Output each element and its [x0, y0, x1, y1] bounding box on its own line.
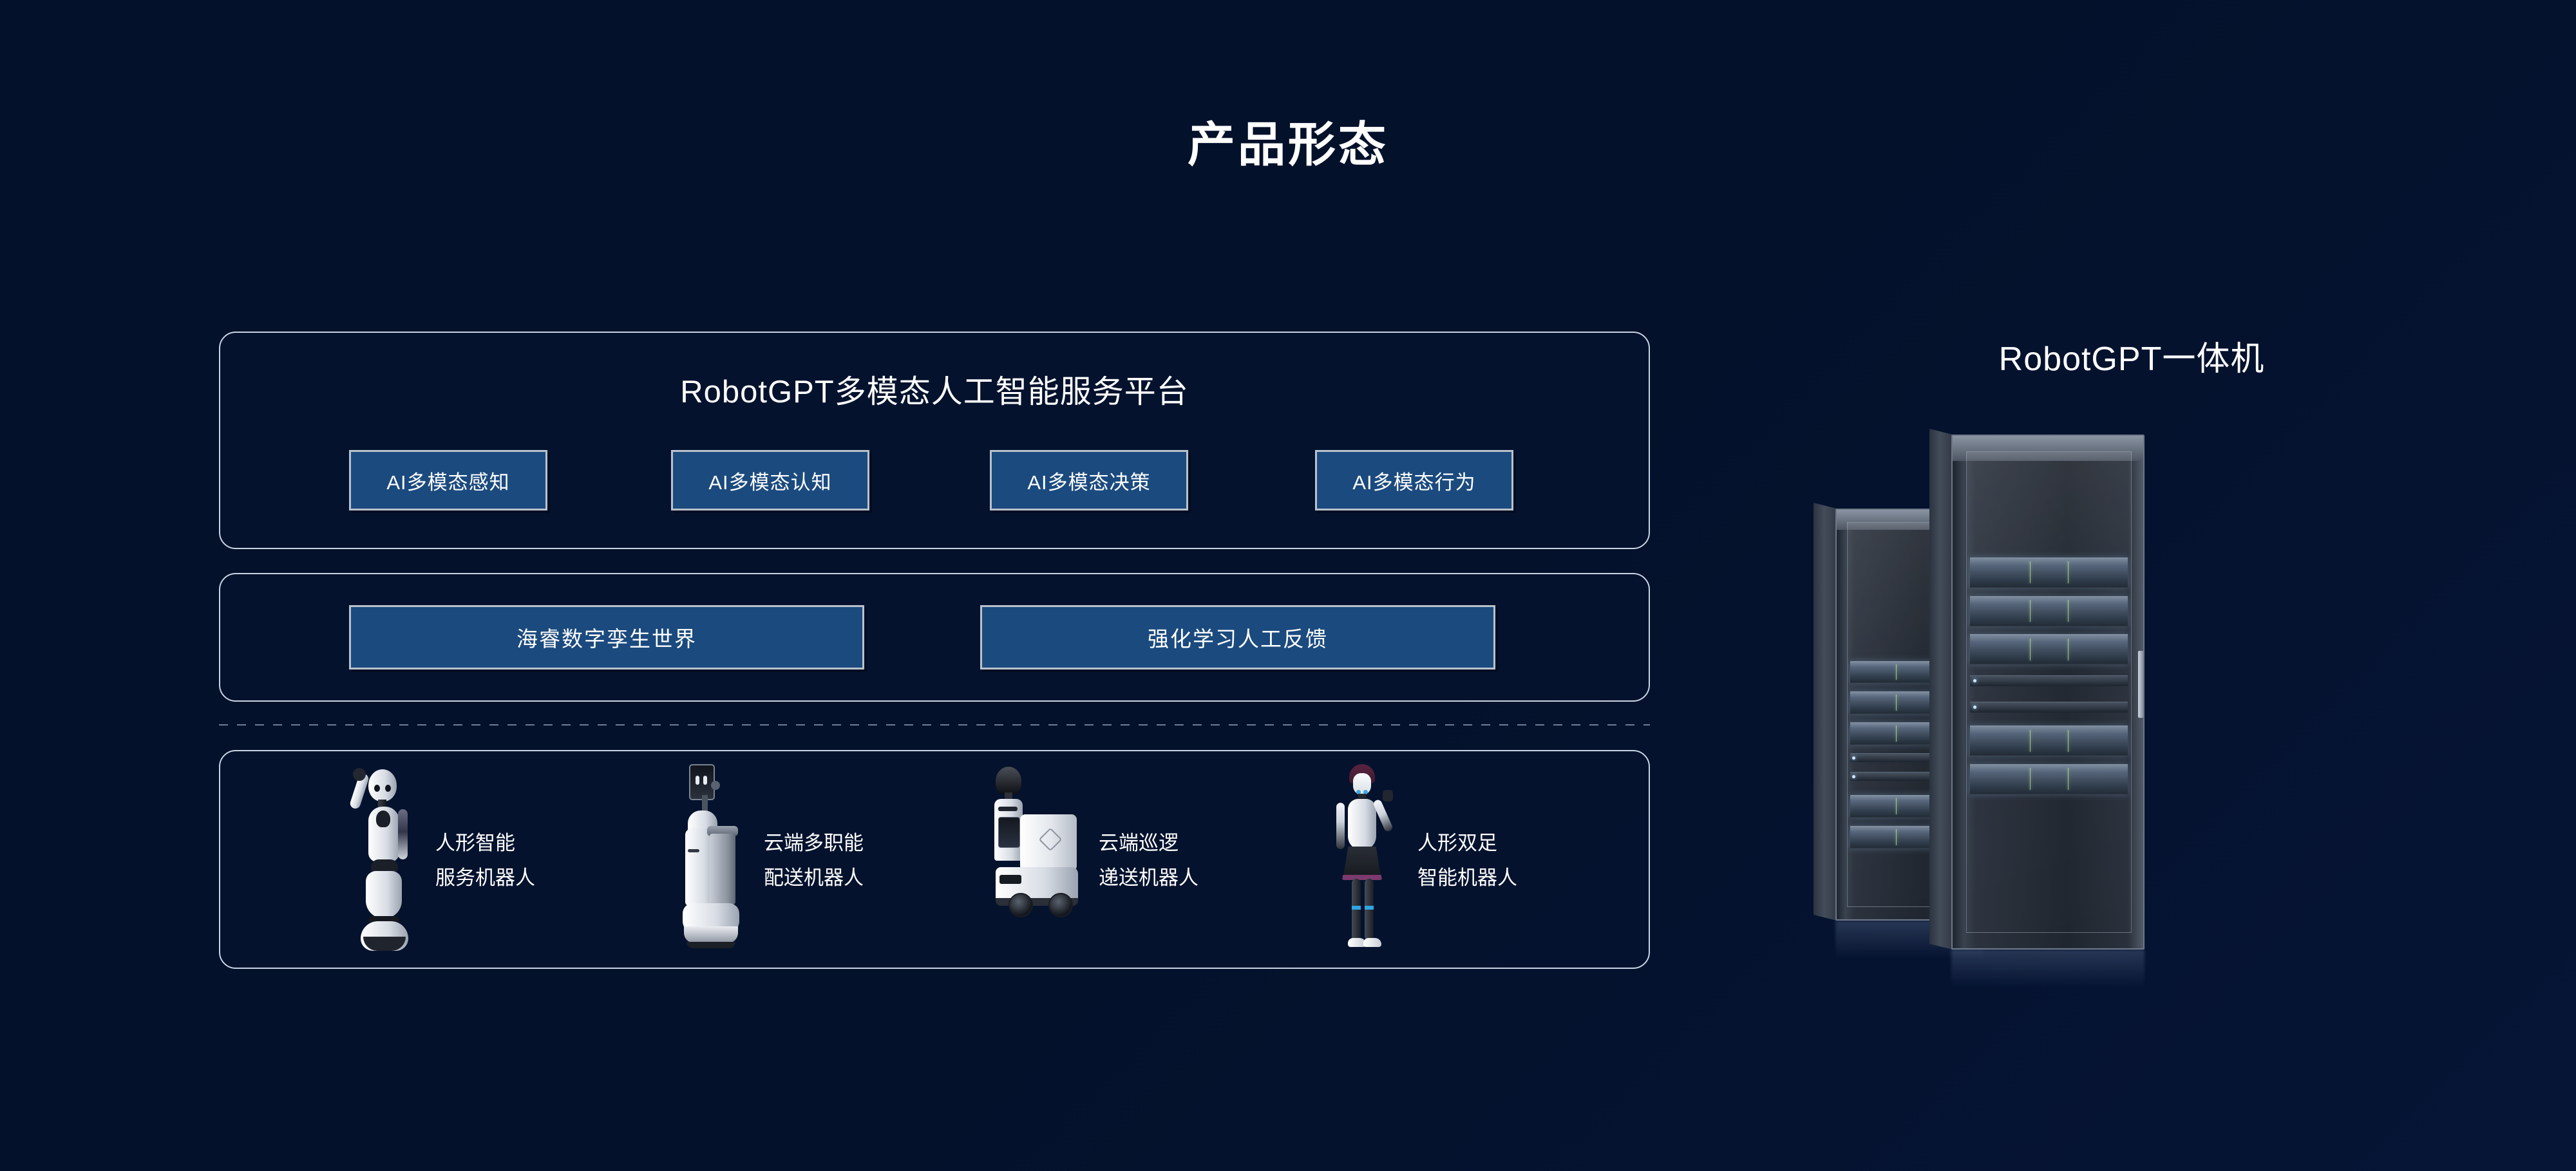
- rack-led: [1973, 679, 1976, 682]
- robot-label-cloud-patrol: 云端巡逻 递送机器人: [1099, 826, 1198, 896]
- rack-unit: [1970, 764, 2128, 794]
- bipedal-face: [1353, 773, 1371, 795]
- patrol-display: [998, 817, 1020, 848]
- robot-eye-right: [385, 785, 391, 792]
- rack-led: [1852, 775, 1855, 778]
- robot-label-line1: 云端巡逻: [1099, 826, 1198, 861]
- rack-led: [1852, 756, 1855, 760]
- rack-unit: [1970, 634, 2128, 664]
- cabinet-door-handle[interactable]: [2138, 651, 2144, 717]
- rack-blade: [1970, 702, 2128, 713]
- bipedal-torso: [1348, 799, 1376, 850]
- delivery-robot-ring: [684, 926, 738, 943]
- platform-card: RobotGPT多模态人工智能服务平台 AI多模态感知 AI多模态认知 AI多模…: [219, 332, 1650, 549]
- robot-eye-left: [374, 785, 380, 792]
- cabinet-reflection: [1951, 950, 2145, 988]
- bipedal-leg-left: [1352, 879, 1361, 941]
- rack-unit: [1970, 557, 2128, 588]
- engine-card: 海睿数字孪生世界 强化学习人工反馈: [219, 573, 1650, 702]
- bipedal-knee-led-right: [1365, 906, 1374, 910]
- chip-ai-perception[interactable]: AI多模态感知: [349, 450, 547, 511]
- patrol-wheel-rear: [1048, 893, 1073, 917]
- robot-item-cloud-patrol[interactable]: 云端巡逻 递送机器人: [987, 751, 1198, 970]
- robot-label-line2: 服务机器人: [435, 861, 535, 895]
- page-title: 产品形态: [0, 106, 2576, 175]
- cabinet-body: [1951, 435, 2145, 950]
- delivery-robot-knob: [711, 781, 720, 790]
- rack-blade: [1970, 675, 2128, 686]
- cabinet-glass-door: [1966, 451, 2132, 933]
- bipedal-hand-right: [1383, 790, 1393, 801]
- chip-ai-decision[interactable]: AI多模态决策: [990, 450, 1188, 511]
- robot-label-humanoid-service: 人形智能 服务机器人: [435, 826, 535, 896]
- robot-label-line1: 云端多职能: [764, 826, 864, 861]
- engine-box-row: 海睿数字孪生世界 强化学习人工反馈: [220, 605, 1649, 673]
- engine-box-rlhf[interactable]: 强化学习人工反馈: [980, 605, 1495, 670]
- robot-label-line2: 配送机器人: [764, 861, 864, 895]
- robot-item-bipedal-humanoid[interactable]: 人形双足 智能机器人: [1325, 751, 1517, 970]
- bipedal-shoe-right: [1363, 938, 1381, 947]
- cabinet-side-panel: [1929, 429, 1953, 950]
- delivery-robot-foot: [687, 942, 735, 948]
- robot-item-humanoid-service[interactable]: 人形智能 服务机器人: [343, 751, 535, 970]
- rack-led: [1973, 706, 1976, 709]
- robot-label-cloud-delivery: 云端多职能 配送机器人: [764, 826, 864, 896]
- robot-arm-right: [398, 809, 408, 859]
- robot-label-line2: 智能机器人: [1417, 861, 1517, 895]
- delivery-robot-eye-left: [696, 776, 699, 785]
- bipedal-humanoid-robot-icon: [1325, 764, 1408, 957]
- robot-row: 人形智能 服务机器人: [220, 751, 1649, 970]
- robot-label-line2: 递送机器人: [1099, 861, 1198, 895]
- patrol-wheel-front: [1009, 893, 1033, 917]
- bipedal-knee-led-left: [1352, 906, 1361, 910]
- delivery-robot-eye-right: [703, 776, 707, 785]
- left-column: RobotGPT多模态人工智能服务平台 AI多模态感知 AI多模态认知 AI多模…: [219, 332, 1650, 969]
- patrol-sensor-bar: [998, 807, 1018, 811]
- rack-unit: [1970, 596, 2128, 626]
- chip-ai-behavior[interactable]: AI多模态行为: [1315, 450, 1513, 511]
- server-cabinet-large: [1951, 435, 2145, 950]
- delivery-robot-bin: [710, 834, 735, 904]
- robot-label-line1: 人形双足: [1417, 826, 1517, 861]
- robot-label-line1: 人形智能: [435, 826, 535, 861]
- robot-chest-panel: [376, 810, 390, 827]
- server-rack-icon: [1829, 402, 2215, 1046]
- robot-head: [368, 769, 397, 801]
- platform-chip-row: AI多模态感知 AI多模态认知 AI多模态决策 AI多模态行为: [220, 450, 1649, 514]
- patrol-grill: [999, 875, 1021, 884]
- humanoid-service-robot-icon: [343, 764, 426, 957]
- robot-label-bipedal-humanoid: 人形双足 智能机器人: [1417, 826, 1517, 896]
- bipedal-leg-right: [1365, 879, 1374, 941]
- chip-ai-cognition[interactable]: AI多模态认知: [671, 450, 869, 511]
- bipedal-skirt-hem: [1342, 875, 1382, 880]
- engine-box-digital-twin[interactable]: 海睿数字孪生世界: [349, 605, 864, 670]
- delivery-robot-slot: [688, 849, 699, 852]
- platform-title: RobotGPT多模态人工智能服务平台: [220, 366, 1649, 412]
- appliance-title: RobotGPT一体机: [1777, 332, 2486, 380]
- cloud-delivery-robot-icon: [671, 764, 755, 957]
- robot-lower-body: [366, 871, 402, 919]
- robot-hand-left: [353, 768, 366, 781]
- robots-card: 人形智能 服务机器人: [219, 750, 1650, 969]
- right-column: RobotGPT一体机: [1777, 332, 2486, 1040]
- cabinet-side-panel: [1814, 503, 1837, 921]
- dashed-divider: [219, 724, 1650, 726]
- slide-root: 产品形态 RobotGPT多模态人工智能服务平台 AI多模态感知 AI多模态认知…: [0, 0, 2576, 1171]
- rack-unit: [1970, 726, 2128, 756]
- patrol-dome-sensor: [996, 767, 1021, 795]
- robot-item-cloud-delivery[interactable]: 云端多职能 配送机器人: [671, 751, 864, 970]
- bipedal-arm-left: [1336, 803, 1345, 849]
- cloud-patrol-vehicle-icon: [987, 764, 1090, 957]
